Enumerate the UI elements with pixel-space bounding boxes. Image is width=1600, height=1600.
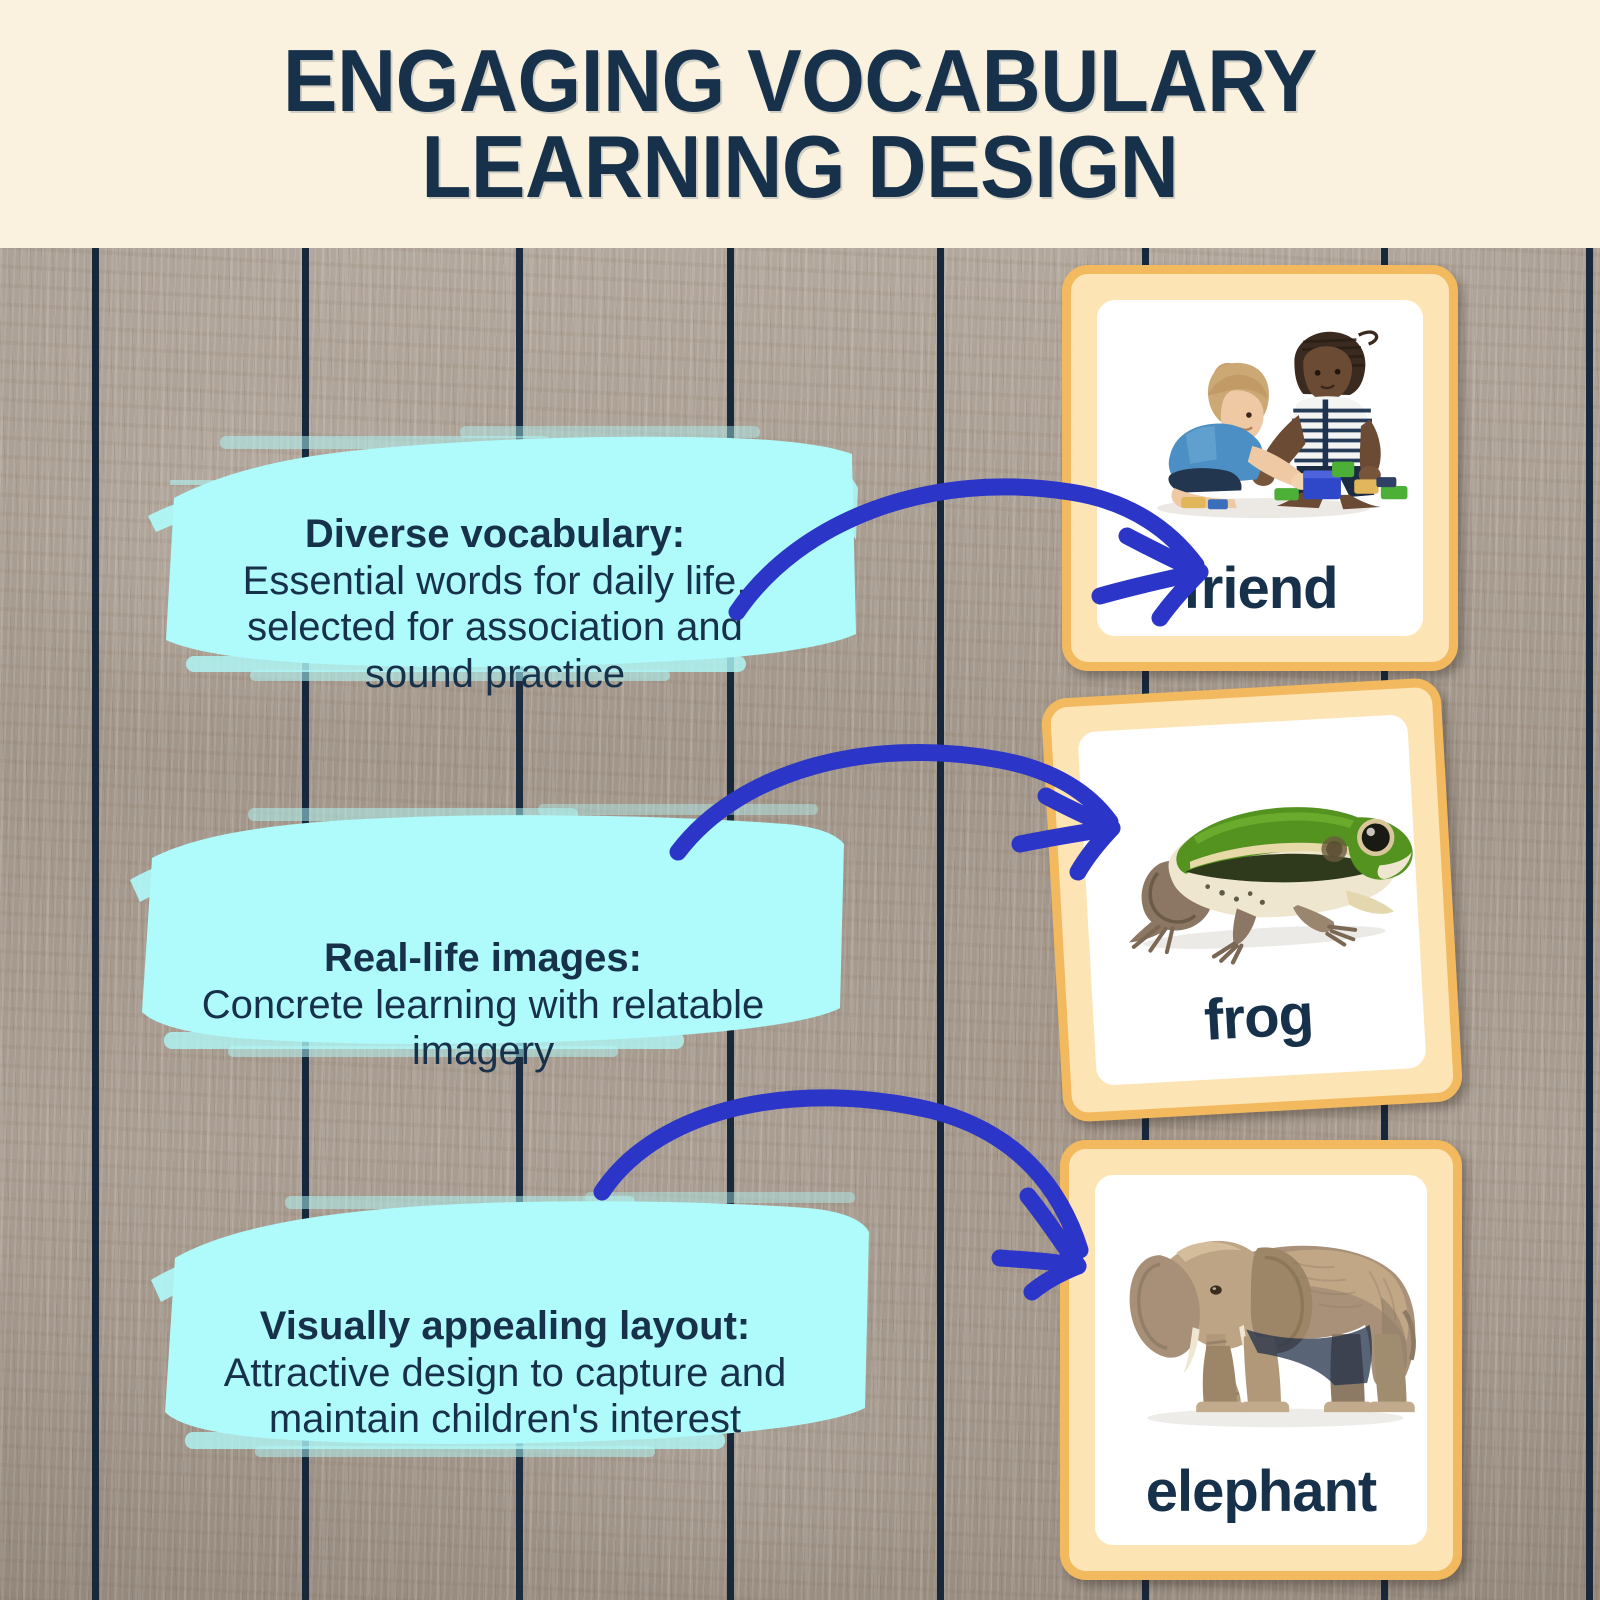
friend-photo: [1097, 313, 1423, 535]
feature-heading-3: Visually appealing layout:: [260, 1304, 751, 1348]
flashcard-frog[interactable]: frog: [1040, 677, 1463, 1123]
header-banner: ENGAGING VOCABULARY LEARNING DESIGN: [0, 0, 1600, 248]
flashcard-elephant[interactable]: elephant: [1060, 1140, 1462, 1580]
flashcard-friend-face: friend: [1097, 300, 1423, 636]
feature-block-visually-appealing-layout: Visually appealing layout: Attractive de…: [135, 1190, 875, 1465]
feature-text-1: Diverse vocabulary: Essential words for …: [130, 420, 860, 698]
flashcard-elephant-face: elephant: [1095, 1175, 1427, 1545]
flashcard-friend[interactable]: friend: [1062, 265, 1458, 671]
feature-heading-1: Diverse vocabulary:: [305, 512, 685, 556]
feature-block-diverse-vocabulary: Diverse vocabulary: Essential words for …: [130, 420, 860, 690]
feature-block-real-life-images: Real-life images: Concrete learning with…: [118, 800, 848, 1065]
infographic-canvas: ENGAGING VOCABULARY LEARNING DESIGN: [0, 0, 1600, 1600]
feature-heading-2: Real-life images:: [324, 936, 642, 980]
flashcard-frog-face: frog: [1077, 714, 1426, 1086]
flashcard-word-frog: frog: [1202, 981, 1316, 1080]
feature-text-3: Visually appealing layout: Attractive de…: [135, 1190, 875, 1443]
flashcard-word-elephant: elephant: [1146, 1458, 1377, 1545]
frog-photo: [1078, 727, 1426, 980]
flashcard-word-friend: friend: [1182, 555, 1337, 636]
feature-body-1: Essential words for daily life, selected…: [243, 559, 748, 697]
feature-body-2: Concrete learning with relatable imagery: [202, 983, 765, 1074]
feature-body-3: Attractive design to capture and maintai…: [224, 1351, 787, 1442]
feature-text-2: Real-life images: Concrete learning with…: [118, 800, 848, 1075]
elephant-photo: [1095, 1190, 1427, 1434]
page-title: ENGAGING VOCABULARY LEARNING DESIGN: [283, 38, 1317, 210]
